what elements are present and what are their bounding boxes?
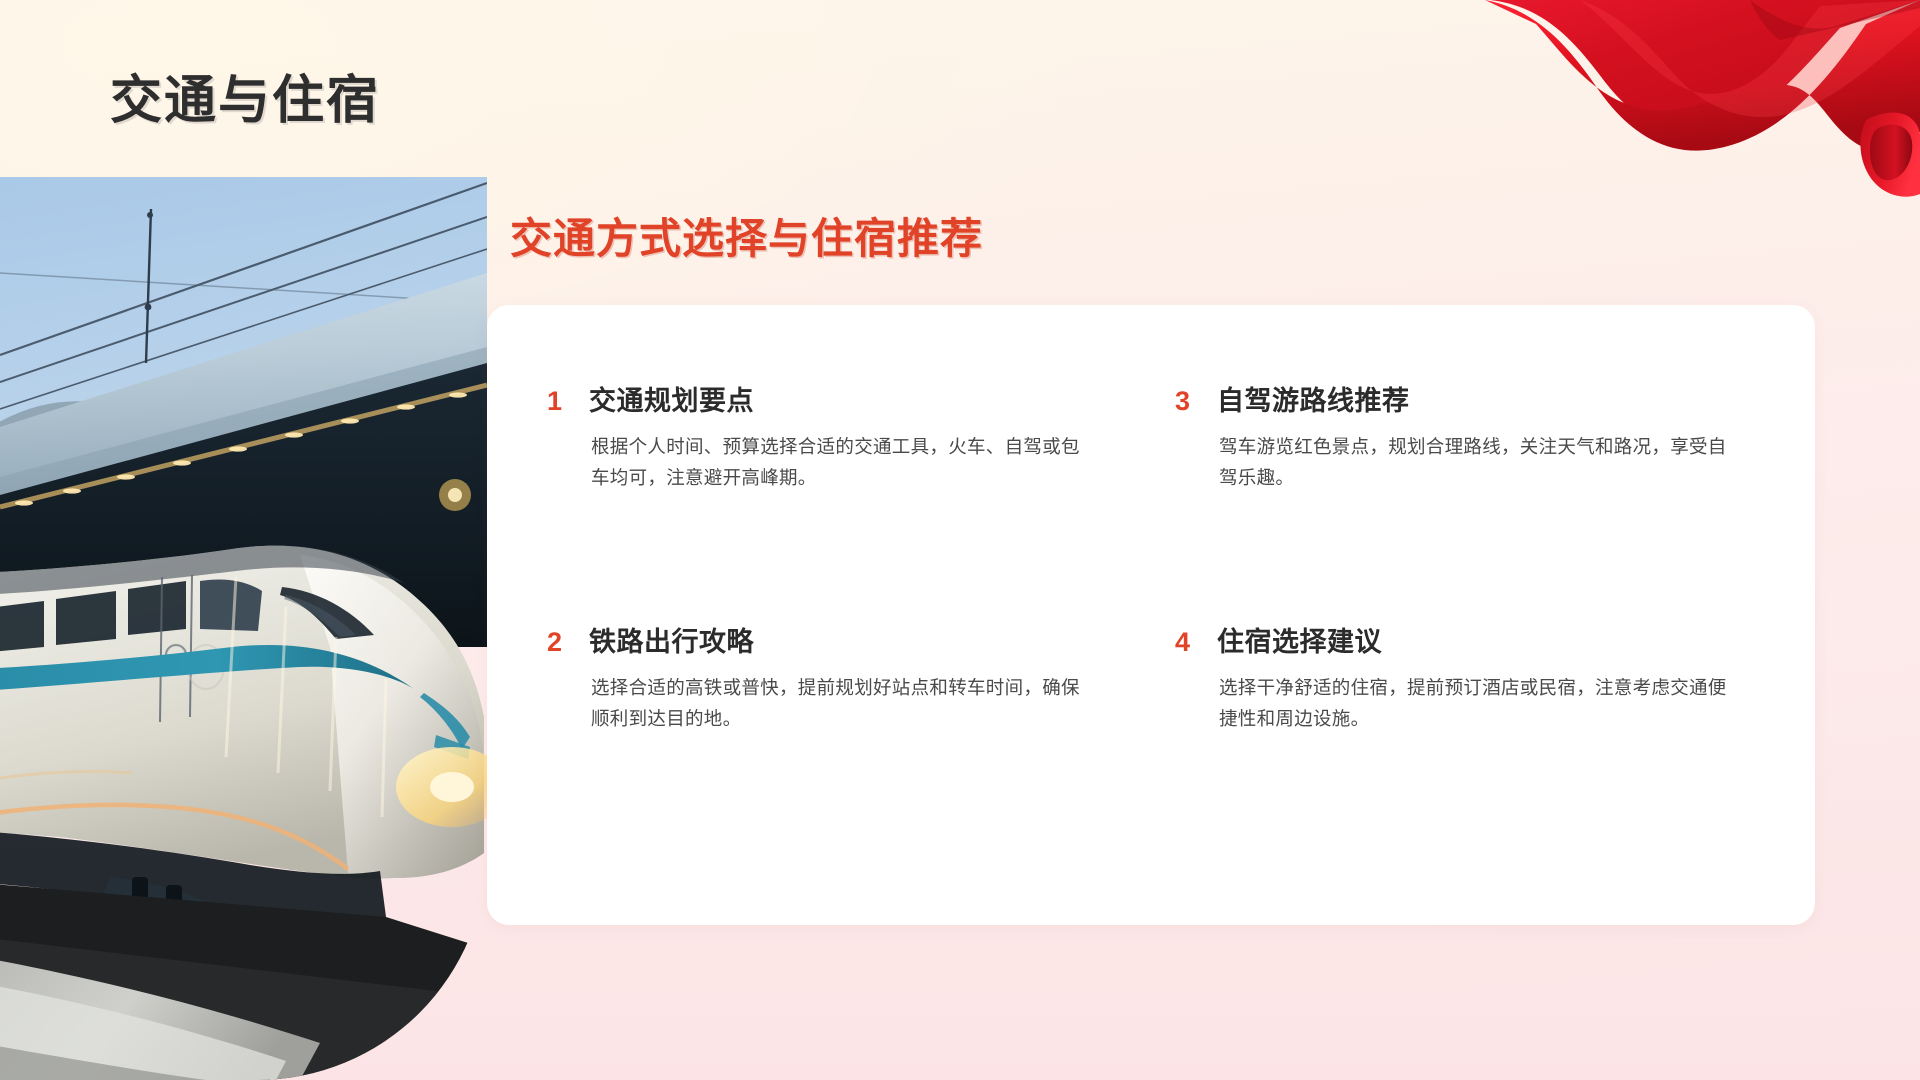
item-number: 4 (1171, 624, 1217, 660)
items-grid: 1 交通规划要点 根据个人时间、预算选择合适的交通工具，火车、自驾或包车均可，注… (487, 305, 1815, 925)
item-title: 交通规划要点 (589, 383, 1131, 419)
train-photo-svg (0, 177, 487, 1080)
item-title: 自驾游路线推荐 (1217, 383, 1759, 419)
list-item-2[interactable]: 2 铁路出行攻略 选择合适的高铁或普快，提前规划好站点和转车时间，确保顺利到达目… (543, 624, 1131, 865)
page-title: 交通与住宿 (110, 58, 380, 133)
train-photo (0, 177, 487, 1080)
item-number: 1 (543, 383, 589, 419)
item-description: 根据个人时间、预算选择合适的交通工具，火车、自驾或包车均可，注意避开高峰期。 (589, 431, 1094, 493)
item-body: 住宿选择建议 选择干净舒适的住宿，提前预订酒店或民宿，注意考虑交通便捷性和周边设… (1217, 624, 1759, 734)
item-number: 2 (543, 624, 589, 660)
section-heading: 交通方式选择与住宿推荐 (510, 205, 983, 266)
item-body: 交通规划要点 根据个人时间、预算选择合适的交通工具，火车、自驾或包车均可，注意避… (589, 383, 1131, 493)
ribbon-shadow (1750, 0, 1920, 40)
item-body: 自驾游路线推荐 驾车游览红色景点，规划合理路线，关注天气和路况，享受自驾乐趣。 (1217, 383, 1759, 493)
ribbon-layer-1 (1490, 0, 1920, 131)
list-item-4[interactable]: 4 住宿选择建议 选择干净舒适的住宿，提前预订酒店或民宿，注意考虑交通便捷性和周… (1171, 624, 1759, 865)
ribbon-curl (1860, 112, 1920, 196)
item-description: 选择干净舒适的住宿，提前预订酒店或民宿，注意考虑交通便捷性和周边设施。 (1217, 672, 1729, 734)
item-number: 3 (1171, 383, 1217, 419)
ribbon-layer-2 (1485, 0, 1920, 151)
item-description: 驾车游览红色景点，规划合理路线，关注天气和路况，享受自驾乐趣。 (1217, 431, 1729, 493)
content-card: 1 交通规划要点 根据个人时间、预算选择合适的交通工具，火车、自驾或包车均可，注… (487, 305, 1815, 925)
ribbon-curl-inner (1870, 124, 1912, 180)
item-title: 铁路出行攻略 (589, 624, 1131, 660)
red-ribbon-decoration (1280, 0, 1920, 220)
ribbon-svg (1280, 0, 1920, 220)
item-description: 选择合适的高铁或普快，提前规划好站点和转车时间，确保顺利到达目的地。 (589, 672, 1094, 734)
list-item-1[interactable]: 1 交通规划要点 根据个人时间、预算选择合适的交通工具，火车、自驾或包车均可，注… (543, 383, 1131, 624)
item-title: 住宿选择建议 (1217, 624, 1759, 660)
list-item-3[interactable]: 3 自驾游路线推荐 驾车游览红色景点，规划合理路线，关注天气和路况，享受自驾乐趣… (1171, 383, 1759, 624)
item-body: 铁路出行攻略 选择合适的高铁或普快，提前规划好站点和转车时间，确保顺利到达目的地… (589, 624, 1131, 734)
ribbon-highlight (1580, 0, 1920, 117)
slide-canvas: 交通与住宿 (0, 0, 1920, 1080)
